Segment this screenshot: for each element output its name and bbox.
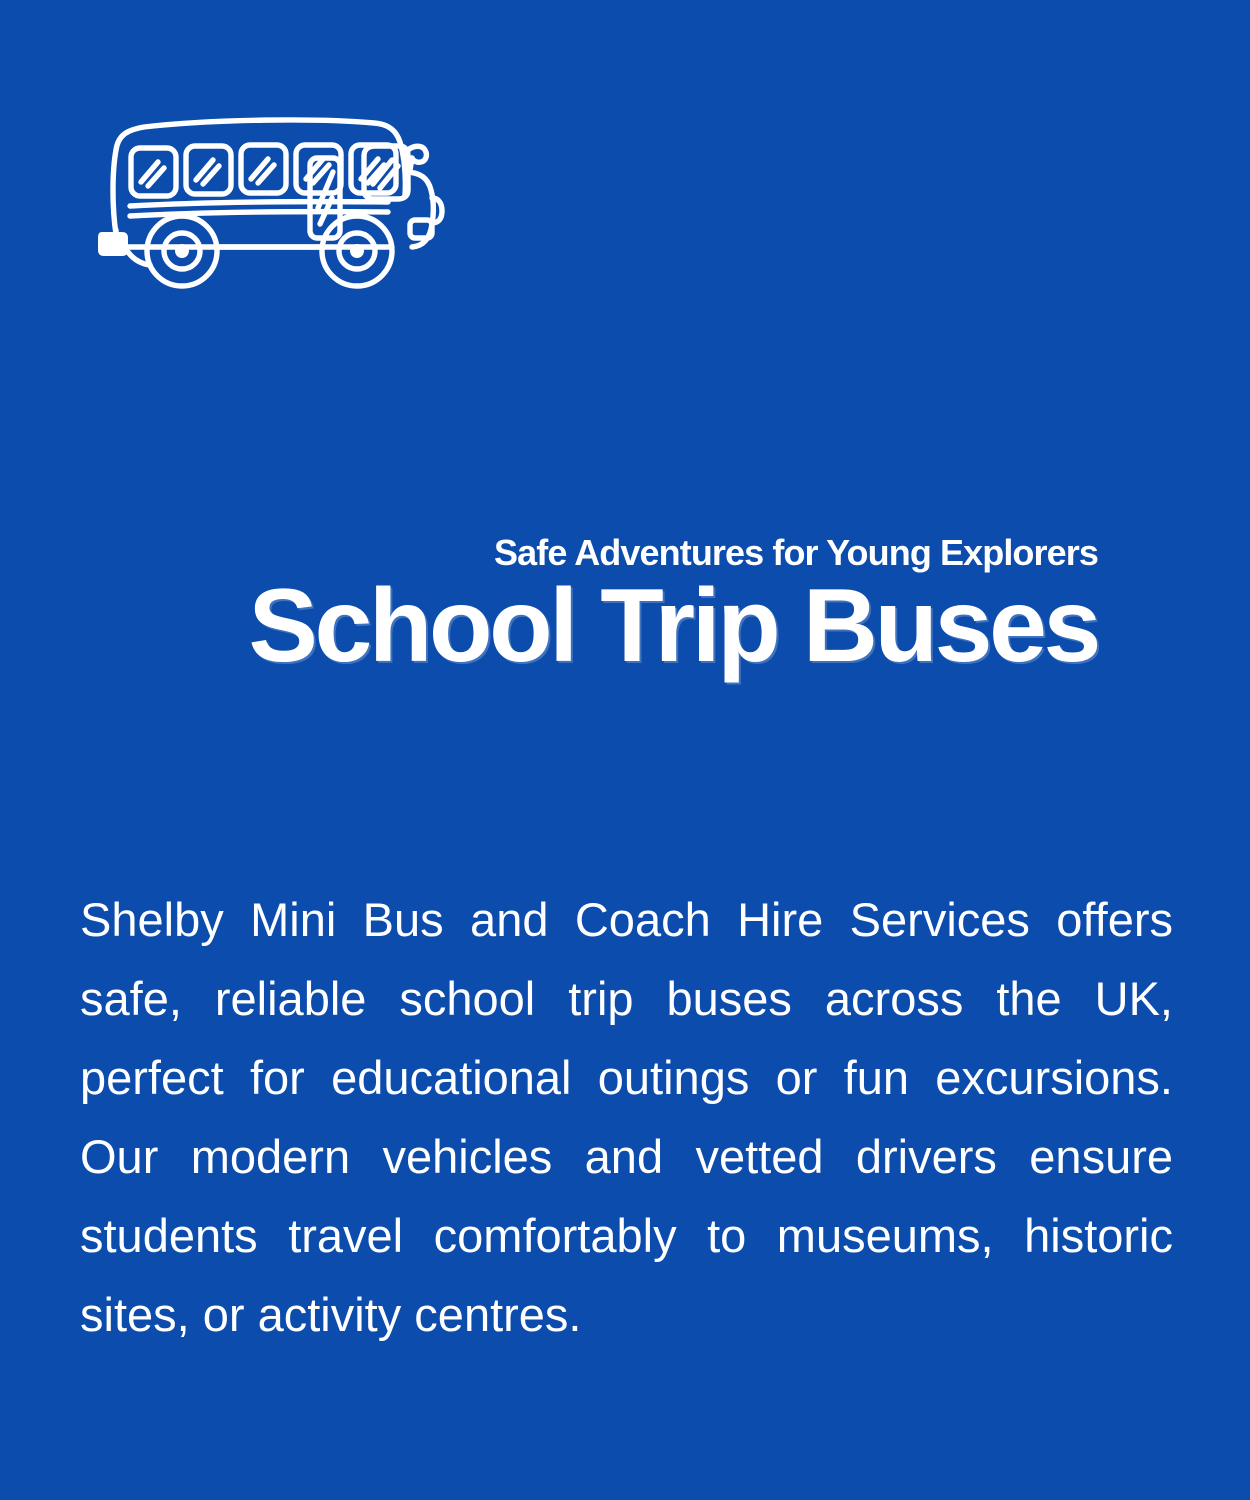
page-title: School Trip Buses	[80, 573, 1098, 679]
eyebrow-text: Safe Adventures for Young Explorers	[80, 535, 1098, 571]
school-bus-icon	[92, 112, 462, 292]
bus-rear-wheel	[147, 216, 217, 286]
bus-front-wheel	[322, 216, 392, 286]
poster-canvas: Safe Adventures for Young Explorers Scho…	[0, 0, 1250, 1500]
bus-window-group	[131, 145, 396, 196]
heading-block: Safe Adventures for Young Explorers Scho…	[80, 535, 1098, 679]
body-paragraph: Shelby Mini Bus and Coach Hire Services …	[80, 880, 1173, 1354]
